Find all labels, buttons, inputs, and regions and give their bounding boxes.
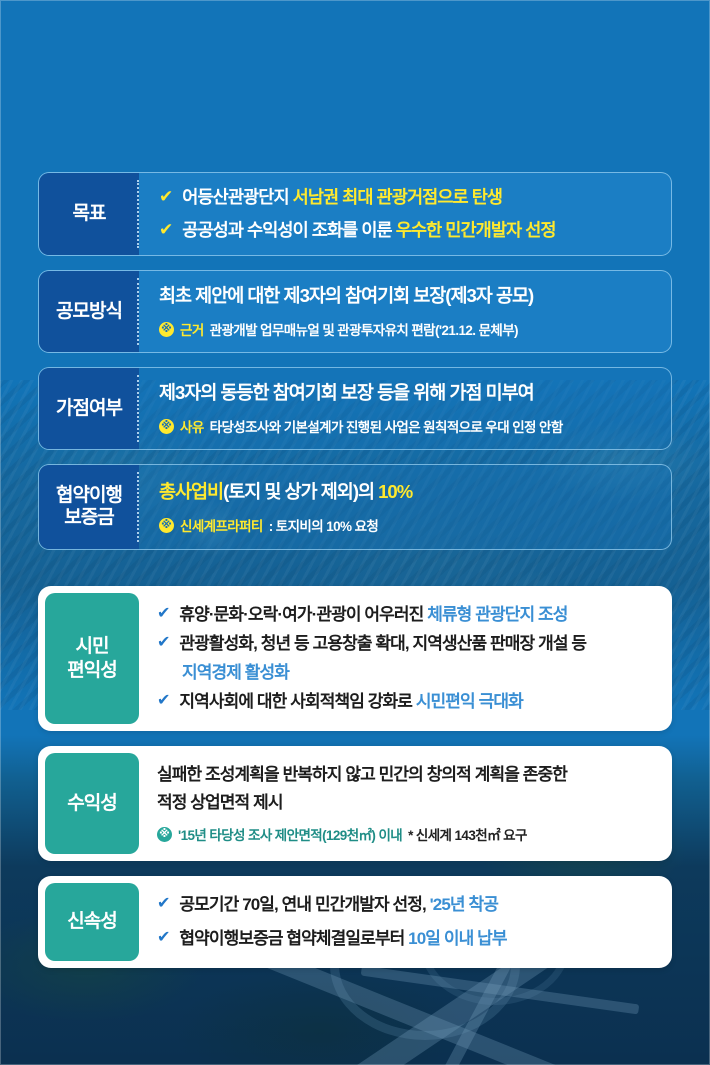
check-icon: ✔: [159, 186, 173, 209]
highlight-text: 우수한 민간개발자 선정: [396, 220, 556, 240]
card-body-goal: ✔ 어등산관광단지 서남권 최대 관광거점으로 탄생 ✔ 공공성과 수익성이 조…: [139, 173, 671, 255]
card-body-citizen-benefit: ✔ 휴양·문화·오락·여가·관광이 어우러진 체류형 관광단지 조성 ✔ 관광활…: [139, 593, 665, 723]
card-headline: 최초 제안에 대한 제3자의 참여기회 보장(제3자 공모): [159, 284, 655, 308]
bullet-text: 어등산관광단지 서남권 최대 관광거점으로 탄생: [182, 186, 502, 210]
card-citizen-benefit: 시민 편익성 ✔ 휴양·문화·오락·여가·관광이 어우러진 체류형 관광단지 조…: [38, 586, 672, 730]
card-profitability: 수익성 실패한 조성계획을 반복하지 않고 민간의 창의적 계획을 존중한 적정…: [38, 746, 672, 862]
note-key: 신세계프라퍼티: [180, 515, 263, 535]
highlight-text: 서남권 최대 관광거점으로 탄생: [293, 187, 503, 207]
highlight-text: 10일 이내 납부: [408, 929, 506, 948]
headline-part-3: 10%: [378, 481, 412, 502]
note-row: ※ 신세계프라퍼티 : 토지비의 10% 요청: [159, 515, 655, 535]
highlight-text: 지역경제 활성화: [182, 661, 289, 685]
card-label-method: 공모방식: [39, 271, 139, 352]
note-text: 타당성조사와 기본설계가 진행된 사업은 원칙적으로 우대 인정 안함: [210, 416, 563, 436]
card-stack: 목표 ✔ 어등산관광단지 서남권 최대 관광거점으로 탄생 ✔ 공공성과 수익성…: [0, 172, 710, 968]
label-text: 목표: [73, 203, 106, 226]
label-text-line-1: 협약이행: [56, 485, 122, 508]
card-body-speed: ✔ 공모기간 70일, 연내 민간개발자 선정, '25년 착공 ✔ 협약이행보…: [139, 883, 665, 961]
check-icon: ✔: [157, 603, 170, 625]
note-row: ※ 사유 타당성조사와 기본설계가 진행된 사업은 원칙적으로 우대 인정 안함: [159, 416, 655, 436]
card-label-goal: 목표: [39, 173, 139, 255]
card-headline: 제3자의 동등한 참여기회 보장 등을 위해 가점 미부여: [159, 381, 655, 405]
headline-part-1: 총사업비: [159, 481, 223, 502]
note-text: * 신세계 143천㎡ 요구: [408, 824, 527, 844]
infographic-page: 18년간 해묵은 과제, 어등산관광단지 공모 재개! 목표 ✔ 어등산관광단지…: [0, 0, 710, 1065]
asterisk-icon: ※: [159, 419, 174, 434]
bullet-text: 관광활성화, 청년 등 고용창출 확대, 지역생산품 판매장 개설 등: [179, 632, 586, 656]
paragraph-line-2: 적정 상업면적 제시: [157, 791, 653, 815]
asterisk-icon: ※: [157, 827, 172, 842]
note-key: 사유: [180, 416, 204, 436]
label-text-line-2: 편익성: [67, 659, 116, 682]
bullet-text: 협약이행보증금 협약체결일로부터 10일 이내 납부: [179, 927, 506, 951]
bullet-text: 공공성과 수익성이 조화를 이룬 우수한 민간개발자 선정: [182, 219, 555, 243]
card-deposit: 협약이행 보증금 총사업비(토지 및 상가 제외)의 10% ※ 신세계프라퍼티…: [38, 464, 672, 550]
paragraph-line-1: 실패한 조성계획을 반복하지 않고 민간의 창의적 계획을 존중한: [157, 763, 653, 787]
bullet-item: ✔ 휴양·문화·오락·여가·관광이 어우러진 체류형 관광단지 조성: [157, 603, 653, 627]
note-row: ※ '15년 타당성 조사 제안면적(129천㎡) 이내 * 신세계 143천㎡…: [157, 824, 653, 844]
card-speed: 신속성 ✔ 공모기간 70일, 연내 민간개발자 선정, '25년 착공 ✔ 협…: [38, 876, 672, 968]
card-body-bonus: 제3자의 동등한 참여기회 보장 등을 위해 가점 미부여 ※ 사유 타당성조사…: [139, 368, 671, 449]
card-label-deposit: 협약이행 보증금: [39, 465, 139, 549]
section-gap: [38, 564, 672, 586]
note-text: : 토지비의 10% 요청: [269, 515, 379, 535]
card-bonus: 가점여부 제3자의 동등한 참여기회 보장 등을 위해 가점 미부여 ※ 사유 …: [38, 367, 672, 450]
note-row: ※ 근거 관광개발 업무매뉴얼 및 관광투자유치 편람('21.12. 문체부): [159, 319, 655, 339]
bullet-item: ✔ 어등산관광단지 서남권 최대 관광거점으로 탄생: [159, 186, 655, 210]
note-key: '15년 타당성 조사 제안면적(129천㎡) 이내: [178, 824, 402, 844]
note-text: 관광개발 업무매뉴얼 및 관광투자유치 편람('21.12. 문체부): [210, 319, 518, 339]
label-text: 수익성: [67, 792, 116, 815]
card-headline: 총사업비(토지 및 상가 제외)의 10%: [159, 480, 655, 504]
card-body-profitability: 실패한 조성계획을 반복하지 않고 민간의 창의적 계획을 존중한 적정 상업면…: [139, 753, 665, 855]
bullet-item: ✔ 협약이행보증금 협약체결일로부터 10일 이내 납부: [157, 927, 653, 951]
highlight-text: '25년 착공: [430, 895, 498, 914]
bullet-item: ✔ 관광활성화, 청년 등 고용창출 확대, 지역생산품 판매장 개설 등: [157, 632, 653, 656]
card-body-deposit: 총사업비(토지 및 상가 제외)의 10% ※ 신세계프라퍼티 : 토지비의 1…: [139, 465, 671, 549]
card-label-bonus: 가점여부: [39, 368, 139, 449]
bullet-text: 지역사회에 대한 사회적책임 강화로 시민편익 극대화: [179, 690, 522, 714]
check-icon: ✔: [157, 927, 170, 949]
check-icon: ✔: [157, 893, 170, 915]
asterisk-icon: ※: [159, 322, 174, 337]
headline-part-2: (토지 및 상가 제외)의: [223, 481, 378, 502]
label-text: 공모방식: [56, 301, 122, 324]
bullet-text: 공모기간 70일, 연내 민간개발자 선정, '25년 착공: [179, 893, 498, 917]
label-text-line-1: 시민: [76, 635, 109, 658]
check-icon: ✔: [157, 690, 170, 712]
card-label-profitability: 수익성: [45, 753, 139, 855]
note-key: 근거: [180, 319, 204, 339]
card-label-citizen-benefit: 시민 편익성: [45, 593, 139, 723]
bullet-text: 휴양·문화·오락·여가·관광이 어우러진 체류형 관광단지 조성: [179, 603, 567, 627]
label-text: 신속성: [67, 910, 116, 933]
highlight-text: 시민편익 극대화: [416, 692, 523, 711]
label-text-line-2: 보증금: [64, 507, 113, 530]
bullet-item: ✔ 공공성과 수익성이 조화를 이룬 우수한 민간개발자 선정: [159, 219, 655, 243]
check-icon: ✔: [159, 219, 173, 242]
check-icon: ✔: [157, 632, 170, 654]
bullet-continuation: 지역경제 활성화: [157, 661, 653, 685]
label-text: 가점여부: [56, 398, 122, 421]
highlight-text: 체류형 관광단지 조성: [427, 605, 567, 624]
bullet-item: ✔ 공모기간 70일, 연내 민간개발자 선정, '25년 착공: [157, 893, 653, 917]
bullet-item: ✔ 지역사회에 대한 사회적책임 강화로 시민편익 극대화: [157, 690, 653, 714]
asterisk-icon: ※: [159, 518, 174, 533]
card-goal: 목표 ✔ 어등산관광단지 서남권 최대 관광거점으로 탄생 ✔ 공공성과 수익성…: [38, 172, 672, 256]
card-method: 공모방식 최초 제안에 대한 제3자의 참여기회 보장(제3자 공모) ※ 근거…: [38, 270, 672, 353]
card-label-speed: 신속성: [45, 883, 139, 961]
card-body-method: 최초 제안에 대한 제3자의 참여기회 보장(제3자 공모) ※ 근거 관광개발…: [139, 271, 671, 352]
